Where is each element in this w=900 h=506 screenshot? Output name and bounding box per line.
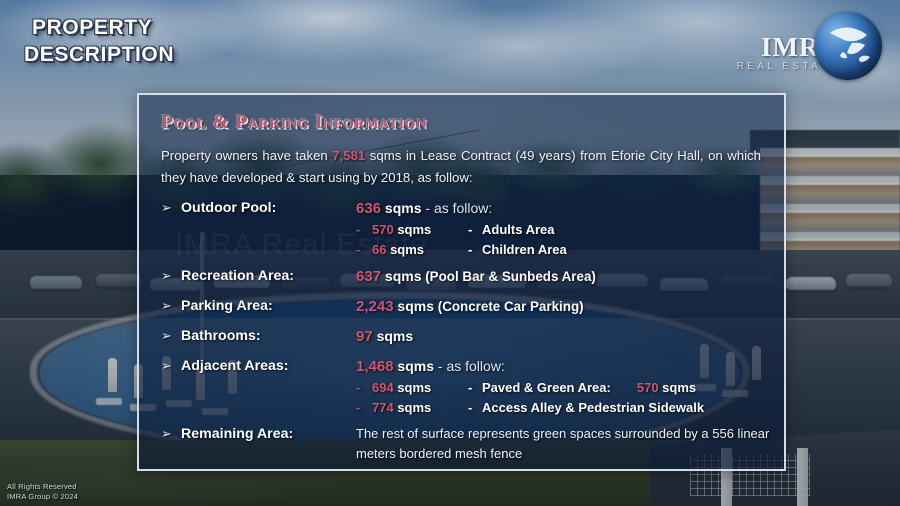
spec-subline: - 694 sqms - Paved & Green Area: 570 sqm… [356,378,770,397]
subline-dash: - [356,240,372,259]
arrow-bullet-icon: ➢ [161,424,181,444]
spec-value-paren: (Concrete Car Parking) [434,299,584,314]
footer-line1: All Rights Reserved [7,482,78,492]
spec-row-recreation-area: ➢ Recreation Area: 637 sqms (Pool Bar & … [161,266,770,287]
arrow-bullet-icon: ➢ [161,266,181,286]
spec-label: Adjacent Areas: [181,356,356,376]
remaining-area-text: The rest of surface represents green spa… [356,426,769,461]
footer-line2: IMRA Group © 2024 [7,492,78,502]
arrow-bullet-icon: ➢ [161,356,181,376]
spec-value-number: 2,243 [356,298,394,315]
spec-value: 2,243 sqms (Concrete Car Parking) [356,296,770,317]
subline-desc: Paved & Green Area: [482,378,611,397]
subline-unit: sqms [386,242,424,257]
spec-value-main: 2,243 sqms (Concrete Car Parking) [356,298,584,314]
page-title-line2: DESCRIPTION [24,41,174,68]
spec-subline: - 774 sqms - Access Alley & Pedestrian S… [356,398,770,417]
subline-number: 66 [372,242,386,257]
panel-title: Pool & Parking Information [161,111,770,134]
arrow-bullet-icon: ➢ [161,296,181,316]
spec-label: Outdoor Pool: [181,198,356,218]
subline-desc: Children Area [482,240,567,259]
subline-dash: - [356,220,372,239]
intro-paragraph: Property owners have taken 7,581 sqms in… [161,145,761,189]
spec-value-number: 1,468 [356,358,394,375]
spec-label: Bathrooms: [181,326,356,346]
footer-copyright: All Rights Reserved IMRA Group © 2024 [7,482,78,501]
spec-label: Recreation Area: [181,266,356,286]
spec-value-unit: sqms [394,298,434,314]
page-title: PROPERTY DESCRIPTION [32,14,174,68]
spec-label: Remaining Area: [181,424,356,444]
spec-subline: - 66 sqms - Children Area [356,240,770,259]
spec-value: 636 sqms - as follow: - 570 sqms - Adult… [356,198,770,259]
subline-dash: - [356,398,372,417]
subline-dash: - [356,378,372,397]
subline-unit: sqms [394,380,432,395]
subline-number: 774 [372,400,394,415]
arrow-bullet-icon: ➢ [161,326,181,346]
subline-extra-number: 570 [637,380,659,395]
subline-number: 570 [372,222,394,237]
brand-logo[interactable]: IMRA REAL ESTATE [732,12,882,84]
spec-value-number: 636 [356,200,381,217]
spec-subline: - 570 sqms - Adults Area [356,220,770,239]
subline-desc: Adults Area [482,220,554,239]
spec-row-outdoor-pool: ➢ Outdoor Pool: 636 sqms - as follow: - … [161,198,770,259]
subline-amount: 694 sqms [372,378,468,397]
spec-row-parking-area: ➢ Parking Area: 2,243 sqms (Concrete Car… [161,296,770,317]
spec-value-number: 637 [356,268,381,285]
page-title-line1: PROPERTY [32,16,152,39]
subline-extra-unit: sqms [659,380,697,395]
spec-value: The rest of surface represents green spa… [356,424,770,464]
spec-row-adjacent-areas: ➢ Adjacent Areas: 1,468 sqms - as follow… [161,356,770,417]
subline-separator: - [468,240,482,259]
spec-value: 97 sqms [356,326,770,347]
subline-separator: - [468,378,482,397]
spec-value-unit: sqms [373,328,413,344]
spec-value-number: 97 [356,328,373,345]
subline-separator: - [468,398,482,417]
subline-amount: 66 sqms [372,240,468,259]
spec-value-unit: sqms [394,358,434,374]
spec-value-main: 637 sqms (Pool Bar & Sunbeds Area) [356,268,596,284]
spec-label: Parking Area: [181,296,356,316]
spec-value-main: 636 sqms - as follow: [356,200,492,216]
spec-value-unit: sqms [381,200,421,216]
subline-unit: sqms [394,400,432,415]
spec-value-tail: - as follow: [422,200,493,216]
intro-before: Property owners have taken [161,148,332,163]
subline-amount: 774 sqms [372,398,468,417]
spec-value: 1,468 sqms - as follow: - 694 sqms - Pav… [356,356,770,417]
info-panel: Pool & Parking Information Property owne… [137,93,786,471]
subline-extra: 570 sqms [637,378,696,397]
spec-rows: ➢ Outdoor Pool: 636 sqms - as follow: - … [161,198,770,464]
spec-row-remaining-area: ➢ Remaining Area: The rest of surface re… [161,424,770,464]
intro-number: 7,581 [332,148,365,163]
spec-value-tail: - as follow: [434,358,505,374]
slide-root: PROPERTY DESCRIPTION IMRA REAL ESTATE IM… [0,0,900,506]
globe-icon [814,12,882,80]
spec-value-unit: sqms [381,268,421,284]
spec-value-paren: (Pool Bar & Sunbeds Area) [422,269,596,284]
subline-number: 694 [372,380,394,395]
arrow-bullet-icon: ➢ [161,198,181,218]
spec-value: 637 sqms (Pool Bar & Sunbeds Area) [356,266,770,287]
subline-desc: Access Alley & Pedestrian Sidewalk [482,398,704,417]
spec-value-main: 97 sqms [356,328,413,344]
subline-amount: 570 sqms [372,220,468,239]
subline-separator: - [468,220,482,239]
spec-value-main: 1,468 sqms - as follow: [356,358,505,374]
spec-row-bathrooms: ➢ Bathrooms: 97 sqms [161,326,770,347]
subline-unit: sqms [394,222,432,237]
